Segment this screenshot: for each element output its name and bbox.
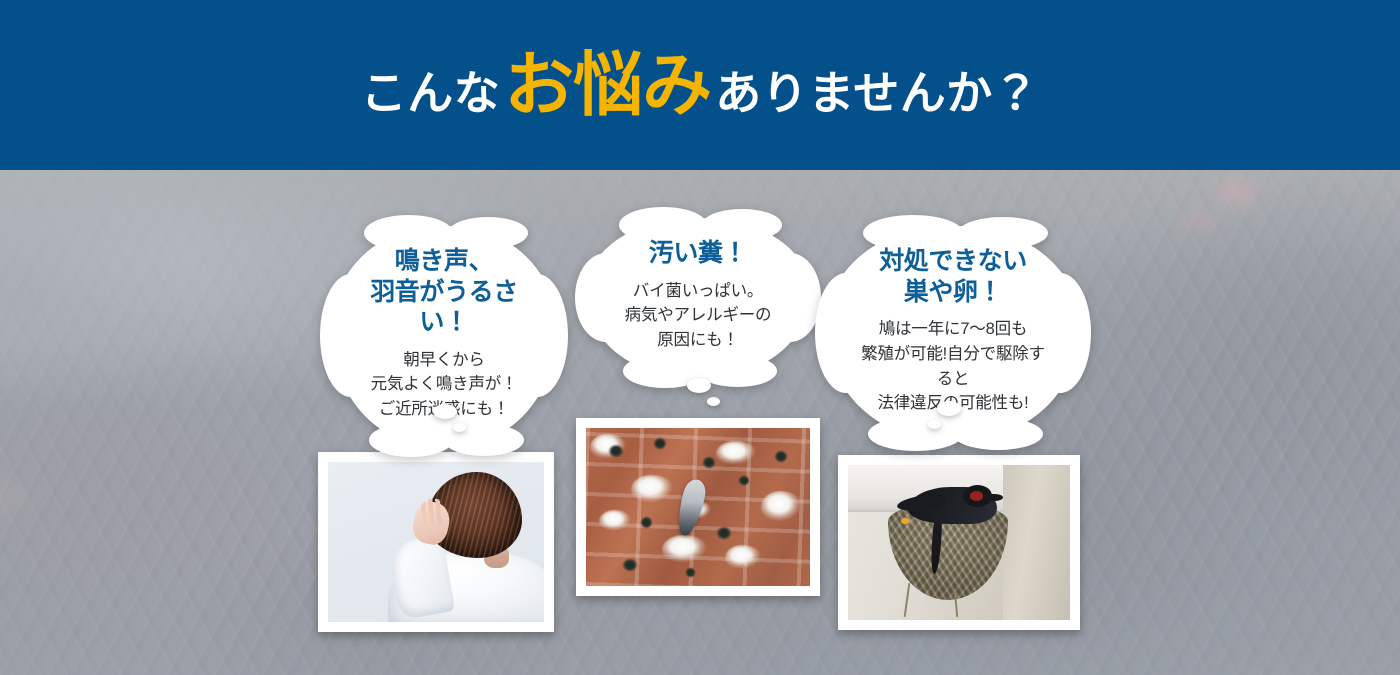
page-title-prefix: こんな bbox=[361, 70, 501, 116]
bubble-text-nest: 鳩は一年に7〜8回も 繁殖が可能!自分で駆除すると 法律違反の可能性も! bbox=[854, 317, 1052, 416]
bubble-body-noise: 鳴き声、 羽音がうるさい！ 朝早くから 元気よく鳴き声が！ ご近所迷惑にも！ bbox=[333, 226, 555, 446]
bubble-body-droppings: 汚い糞！ バイ菌いっぱい。 病気やアレルギーの 原因にも！ bbox=[588, 218, 808, 377]
photo-card-droppings bbox=[576, 418, 820, 596]
grime-spot bbox=[702, 456, 715, 469]
problem-bubble-droppings: 汚い糞！ バイ菌いっぱい。 病気やアレルギーの 原因にも！ bbox=[588, 218, 808, 377]
bubble-bump bbox=[702, 209, 781, 241]
dropping-splat bbox=[725, 545, 761, 570]
photo-image-woman bbox=[328, 462, 544, 622]
bubble-body-nest: 対処できない 巣や卵！ 鳩は一年に7〜8回も 繁殖が可能!自分で駆除すると 法律… bbox=[828, 226, 1078, 440]
swallow-throat bbox=[970, 491, 983, 500]
bubble-text-noise: 朝早くから 元気よく鳴き声が！ ご近所迷惑にも！ bbox=[359, 348, 529, 422]
header-band: こんなお悩みありませんか？ bbox=[0, 0, 1400, 170]
photo-frame bbox=[848, 465, 1070, 620]
grime-spot bbox=[653, 437, 666, 450]
page-title-suffix: ありませんか？ bbox=[715, 70, 1039, 116]
bubble-bump bbox=[444, 424, 524, 456]
photo-image-droppings bbox=[586, 428, 810, 586]
photo-card-woman bbox=[318, 452, 554, 632]
problems-hero-section: こんなお悩みありませんか？ 鳴き声、 羽音がうるさい！ 朝早くから 元気よく鳴き… bbox=[0, 0, 1400, 675]
dropping-splat bbox=[716, 441, 756, 466]
problem-bubble-noise: 鳴き声、 羽音がうるさい！ 朝早くから 元気よく鳴き声が！ ご近所迷惑にも！ bbox=[333, 226, 555, 446]
photo-image-nest bbox=[848, 465, 1070, 620]
chick-beak bbox=[901, 518, 910, 524]
bubble-title-noise: 鳴き声、 羽音がうるさい！ bbox=[359, 246, 529, 338]
dropping-splat bbox=[631, 475, 674, 503]
swallow-beak bbox=[988, 494, 1004, 500]
grime-spot bbox=[608, 444, 624, 458]
dropping-splat bbox=[761, 491, 801, 523]
bubble-bump bbox=[958, 217, 1048, 249]
bubble-bump bbox=[369, 423, 453, 457]
bubble-bump bbox=[448, 217, 528, 249]
bubble-bump bbox=[953, 418, 1043, 450]
page-title-highlight: お悩み bbox=[504, 50, 711, 120]
bubble-bump bbox=[868, 417, 963, 451]
grime-spot bbox=[622, 558, 638, 572]
bubble-title-droppings: 汚い糞！ bbox=[614, 238, 782, 269]
grime-spot bbox=[738, 475, 749, 486]
nest-straw bbox=[903, 583, 910, 617]
bubble-title-nest: 対処できない 巣や卵！ bbox=[854, 246, 1052, 307]
dropping-splat bbox=[662, 535, 707, 563]
bubble-text-droppings: バイ菌いっぱい。 病気やアレルギーの 原因にも！ bbox=[614, 279, 782, 353]
bubble-bump bbox=[623, 354, 707, 388]
photo-card-nest bbox=[838, 455, 1080, 630]
page-title: こんなお悩みありませんか？ bbox=[361, 50, 1040, 120]
grime-spot bbox=[774, 450, 787, 463]
grime-spot bbox=[716, 526, 732, 540]
wall-pillar bbox=[1003, 465, 1070, 620]
photo-frame bbox=[328, 462, 544, 622]
problem-bubble-nest: 対処できない 巣や卵！ 鳩は一年に7〜8回も 繁殖が可能!自分で駆除すると 法律… bbox=[828, 226, 1078, 440]
bubble-bump bbox=[698, 355, 777, 387]
grime-spot bbox=[640, 516, 653, 529]
photo-frame bbox=[586, 428, 810, 586]
dropping-splat bbox=[599, 510, 630, 532]
grime-spot bbox=[685, 567, 696, 578]
